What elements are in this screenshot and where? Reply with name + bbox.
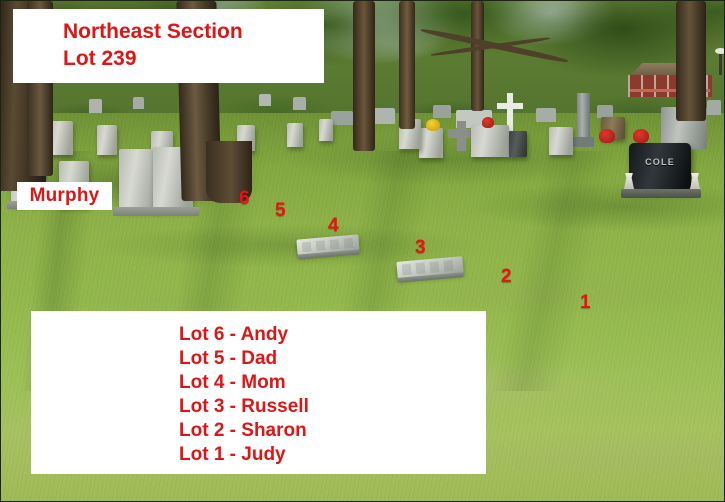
lot-marker-4: 4 xyxy=(328,216,339,235)
midground-headstone xyxy=(287,123,303,147)
family-name-callout-box: Murphy xyxy=(17,182,112,210)
red-flowers xyxy=(482,117,494,128)
midground-headstone xyxy=(319,119,333,141)
background-headstone xyxy=(536,108,556,122)
lamp-post xyxy=(719,53,722,75)
obelisk-monument xyxy=(577,93,590,141)
legend-row-lot1: Lot 1 - Judy xyxy=(179,443,486,467)
cole-monument-base xyxy=(621,189,701,198)
midground-headstone xyxy=(419,128,443,158)
lot-legend-callout-box: Lot 6 - Andy Lot 5 - Dad Lot 4 - Mom Lot… xyxy=(31,311,486,474)
tree-trunk-midground xyxy=(399,1,415,129)
tree-trunk-right xyxy=(676,1,706,121)
midground-dark-headstone xyxy=(509,131,527,157)
foreground-headstone-base xyxy=(147,207,199,216)
midground-headstone xyxy=(549,127,573,155)
background-headstone xyxy=(331,111,353,125)
background-headstone xyxy=(293,97,306,110)
lot-marker-6: 6 xyxy=(239,189,250,208)
obelisk-base xyxy=(573,137,594,147)
title-callout-box: Northeast Section Lot 239 xyxy=(13,9,324,83)
legend-row-lot4: Lot 4 - Mom xyxy=(179,371,486,395)
legend-row-lot3: Lot 3 - Russell xyxy=(179,395,486,419)
cemetery-photo: COLE 6 5 4 3 2 1 Northeast Section Lot 2… xyxy=(0,0,725,502)
yellow-flowers xyxy=(426,119,440,131)
background-headstone xyxy=(707,100,721,115)
tree-trunk-midground xyxy=(471,1,484,111)
title-line-lot: Lot 239 xyxy=(63,45,324,72)
midground-headstone xyxy=(97,125,117,155)
cole-monument: COLE xyxy=(629,143,691,191)
lot-marker-2: 2 xyxy=(501,267,512,286)
background-headstone xyxy=(433,105,451,118)
family-name-label: Murphy xyxy=(30,185,100,207)
legend-row-lot6: Lot 6 - Andy xyxy=(179,323,486,347)
title-line-section: Northeast Section xyxy=(63,18,324,45)
midground-headstone xyxy=(471,125,509,157)
background-headstone xyxy=(89,99,102,113)
background-headstone xyxy=(133,97,144,109)
white-cross-arm xyxy=(497,103,523,109)
tree-trunk-midground xyxy=(353,1,375,151)
legend-row-lot2: Lot 2 - Sharon xyxy=(179,419,486,443)
cole-monument-inscription: COLE xyxy=(629,157,691,167)
red-flowers xyxy=(633,129,649,143)
background-headstone xyxy=(259,94,271,106)
lot-marker-1: 1 xyxy=(580,293,591,312)
lot-marker-3: 3 xyxy=(415,238,426,257)
lot-marker-5: 5 xyxy=(275,201,286,220)
legend-row-lot5: Lot 5 - Dad xyxy=(179,347,486,371)
red-flowers xyxy=(599,129,615,143)
